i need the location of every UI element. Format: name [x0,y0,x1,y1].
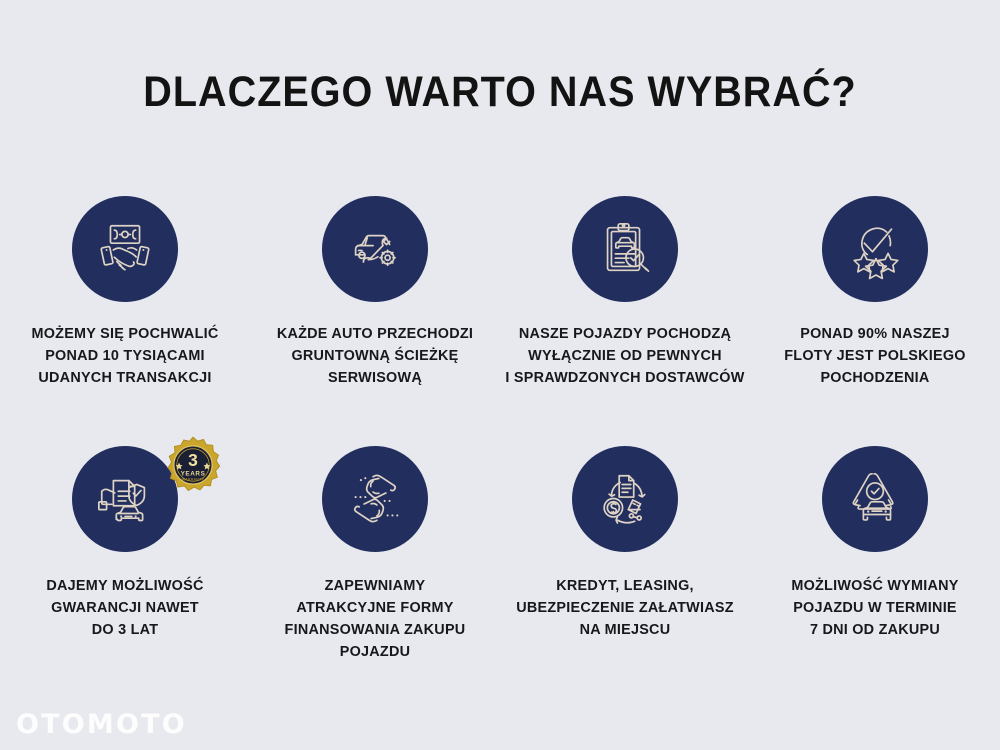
caption-line: SERWISOWĄ [255,368,495,390]
caption-line: ATRAKCYJNE FORMY [255,598,495,620]
feature-caption: MOŻLIWOŚĆ WYMIANY POJAZDU W TERMINIE 7 D… [755,576,995,642]
caption-line: DO 3 LAT [5,620,245,642]
caption-line: POJAZDU W TERMINIE [755,598,995,620]
feature-caption: KAŻDE AUTO PRZECHODZI GRUNTOWNĄ ŚCIEŻKĘ … [255,324,495,390]
feature-card-service: KAŻDE AUTO PRZECHODZI GRUNTOWNĄ ŚCIEŻKĘ … [250,196,500,446]
warranty-document-shield-car-icon [72,446,178,552]
icon-badge [572,196,678,302]
caption-line: FLOTY JEST POLSKIEGO [755,346,995,368]
feature-grid: MOŻEMY SIĘ POCHWALIĆ PONAD 10 TYSIĄCAMI … [0,196,1000,696]
caption-line: NA MIEJSCU [505,620,745,642]
feature-card-warranty: 3 YEARS WARRANTY DAJEMY MOŻLIWOŚĆ GWARAN… [0,446,250,696]
feature-card-credit-leasing: KREDYT, LEASING, UBEZPIECZENIE ZAŁATWIAS… [500,446,750,696]
icon-badge [322,196,428,302]
car-exchange-arrows-icon [822,446,928,552]
feature-card-financing: ZAPEWNIAMY ATRAKCYJNE FORMY FINANSOWANIA… [250,446,500,696]
feature-caption: KREDYT, LEASING, UBEZPIECZENIE ZAŁATWIAS… [505,576,745,642]
feature-card-polish-fleet: PONAD 90% NASZEJ FLOTY JEST POLSKIEGO PO… [750,196,1000,446]
caption-line: MOŻLIWOŚĆ WYMIANY [755,576,995,598]
warranty-seal-badge: 3 YEARS WARRANTY [164,436,222,494]
caption-line: PONAD 90% NASZEJ [755,324,995,346]
caption-line: FINANSOWANIA ZAKUPU [255,620,495,642]
caption-line: KAŻDE AUTO PRZECHODZI [255,324,495,346]
caption-line: DAJEMY MOŻLIWOŚĆ [5,576,245,598]
watermark-text: OTOMOTO [16,709,187,740]
page-title: DLACZEGO WARTO NAS WYBRAĆ? [40,68,960,117]
icon-badge [822,196,928,302]
checkmark-stars-icon [822,196,928,302]
otomoto-watermark: OTOMOTO [16,709,187,740]
svg-text:3: 3 [188,450,198,470]
caption-line: WYŁĄCZNIE OD PEWNYCH [505,346,745,368]
caption-line: GRUNTOWNĄ ŚCIEŻKĘ [255,346,495,368]
icon-badge [822,446,928,552]
feature-card-exchange: MOŻLIWOŚĆ WYMIANY POJAZDU W TERMINIE 7 D… [750,446,1000,696]
feature-caption: PONAD 90% NASZEJ FLOTY JEST POLSKIEGO PO… [755,324,995,390]
icon-badge [72,196,178,302]
feature-caption: NASZE POJAZDY POCHODZĄ WYŁĄCZNIE OD PEWN… [505,324,745,390]
car-wrench-gear-icon [322,196,428,302]
handshake-money-icon [72,196,178,302]
finance-cycle-icon [572,446,678,552]
svg-text:YEARS: YEARS [181,470,206,477]
svg-text:WARRANTY: WARRANTY [182,478,205,482]
caption-line: NASZE POJAZDY POCHODZĄ [505,324,745,346]
feature-caption: DAJEMY MOŻLIWOŚĆ GWARANCJI NAWET DO 3 LA… [5,576,245,642]
icon-badge [572,446,678,552]
caption-line: POCHODZENIA [755,368,995,390]
icon-badge: 3 YEARS WARRANTY [72,446,178,552]
feature-card-transactions: MOŻEMY SIĘ POCHWALIĆ PONAD 10 TYSIĄCAMI … [0,196,250,446]
caption-line: UBEZPIECZENIE ZAŁATWIASZ [505,598,745,620]
caption-line: 7 DNI OD ZAKUPU [755,620,995,642]
caption-line: GWARANCJI NAWET [5,598,245,620]
feature-caption: ZAPEWNIAMY ATRAKCYJNE FORMY FINANSOWANIA… [255,576,495,664]
caption-line: PONAD 10 TYSIĄCAMI [5,346,245,368]
caption-line: UDANYCH TRANSAKCJI [5,368,245,390]
caption-line: KREDYT, LEASING, [505,576,745,598]
clipboard-car-magnifier-icon [572,196,678,302]
caption-line: MOŻEMY SIĘ POCHWALIĆ [5,324,245,346]
caption-line: I SPRAWDZONYCH DOSTAWCÓW [505,368,745,390]
feature-caption: MOŻEMY SIĘ POCHWALIĆ PONAD 10 TYSIĄCAMI … [5,324,245,390]
caption-line: POJAZDU [255,642,495,664]
infographic-page: DLACZEGO WARTO NAS WYBRAĆ? [0,0,1000,750]
feature-card-suppliers: NASZE POJAZDY POCHODZĄ WYŁĄCZNIE OD PEWN… [500,196,750,446]
hands-exchanging-money-icon [322,446,428,552]
icon-badge [322,446,428,552]
caption-line: ZAPEWNIAMY [255,576,495,598]
